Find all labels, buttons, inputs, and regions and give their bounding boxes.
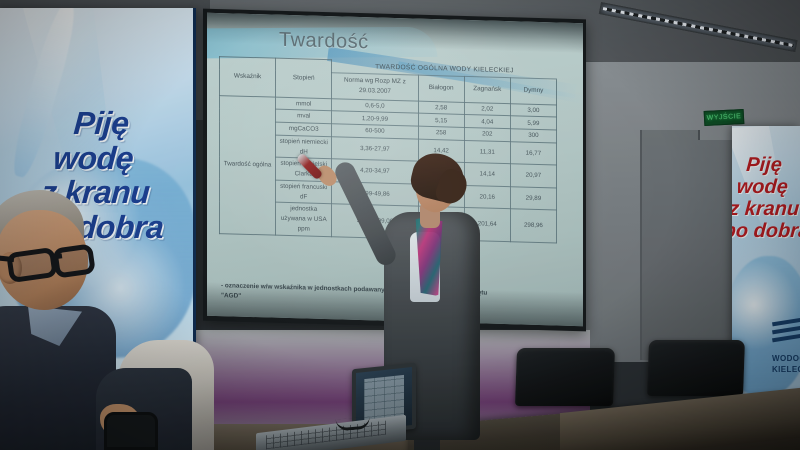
banner-right-line-4: bo dobra xyxy=(732,220,800,242)
banner-right-logo-text: WODOCIĄGI KIELECKIE xyxy=(772,354,800,376)
chair-backrest-foreground xyxy=(104,412,158,450)
col-header-wskaznik: Wskaźnik xyxy=(220,57,276,97)
cell-dymny: 20,97 xyxy=(510,164,556,188)
conference-chair xyxy=(647,340,745,396)
row-group-label: Twardość ogólna xyxy=(220,95,276,235)
cell-unit: jednostka używana w USA ppm xyxy=(276,203,332,237)
water-logo-icon-small xyxy=(772,318,800,344)
cell-bialogon: 2,58 xyxy=(418,101,464,115)
cell-dymny: 29,89 xyxy=(510,187,556,211)
banner-right-line-1: Piję xyxy=(746,154,800,176)
banner-left-line-1: Piję xyxy=(73,108,196,139)
banner-left-line-2: wodę xyxy=(52,143,196,174)
col-header-norma: Norma wg Rozp MZ z 29.03.2007 xyxy=(332,72,418,100)
banner-right-line-2: wodę xyxy=(736,176,800,198)
cell-zagnansk: 2,02 xyxy=(464,102,510,116)
cell-dymny: 5,99 xyxy=(510,116,556,130)
cell-dymny: 298,96 xyxy=(510,209,556,243)
eyeglasses-icon xyxy=(8,248,104,282)
logo-text-line1: WODOCIĄGI xyxy=(772,354,800,365)
cell-dymny: 300 xyxy=(510,129,556,143)
cell-bialogon: 258 xyxy=(418,126,464,140)
banner-right-headline: Piję wodę z kranu bo dobra xyxy=(741,154,800,242)
cell-dymny: 16,77 xyxy=(510,142,556,166)
cell-bialogon: 5,15 xyxy=(418,114,464,128)
banner-right-line-3: z kranu xyxy=(732,198,800,220)
exit-sign: WYJŚCIE xyxy=(704,109,745,126)
presenter-laptop[interactable] xyxy=(256,366,416,450)
conference-chair xyxy=(515,348,615,406)
cell-zagnansk: 4,04 xyxy=(464,115,510,129)
slide-title: Twardość xyxy=(279,29,571,60)
col-header-bialogon: Białogon xyxy=(418,75,464,102)
col-header-zagnansk: Zagnańsk xyxy=(464,76,510,103)
cell-dymny: 3,00 xyxy=(510,103,556,117)
banner-right-logo xyxy=(772,318,800,348)
logo-text-line2: KIELECKIE xyxy=(772,365,800,376)
col-header-dymny: Dymny xyxy=(510,77,556,104)
conference-room-photo: WYJŚCIE Twardość Wskaźnik xyxy=(0,0,800,450)
col-header-stopien: Stopień xyxy=(276,58,332,98)
exit-sign-label: WYJŚCIE xyxy=(705,110,744,125)
